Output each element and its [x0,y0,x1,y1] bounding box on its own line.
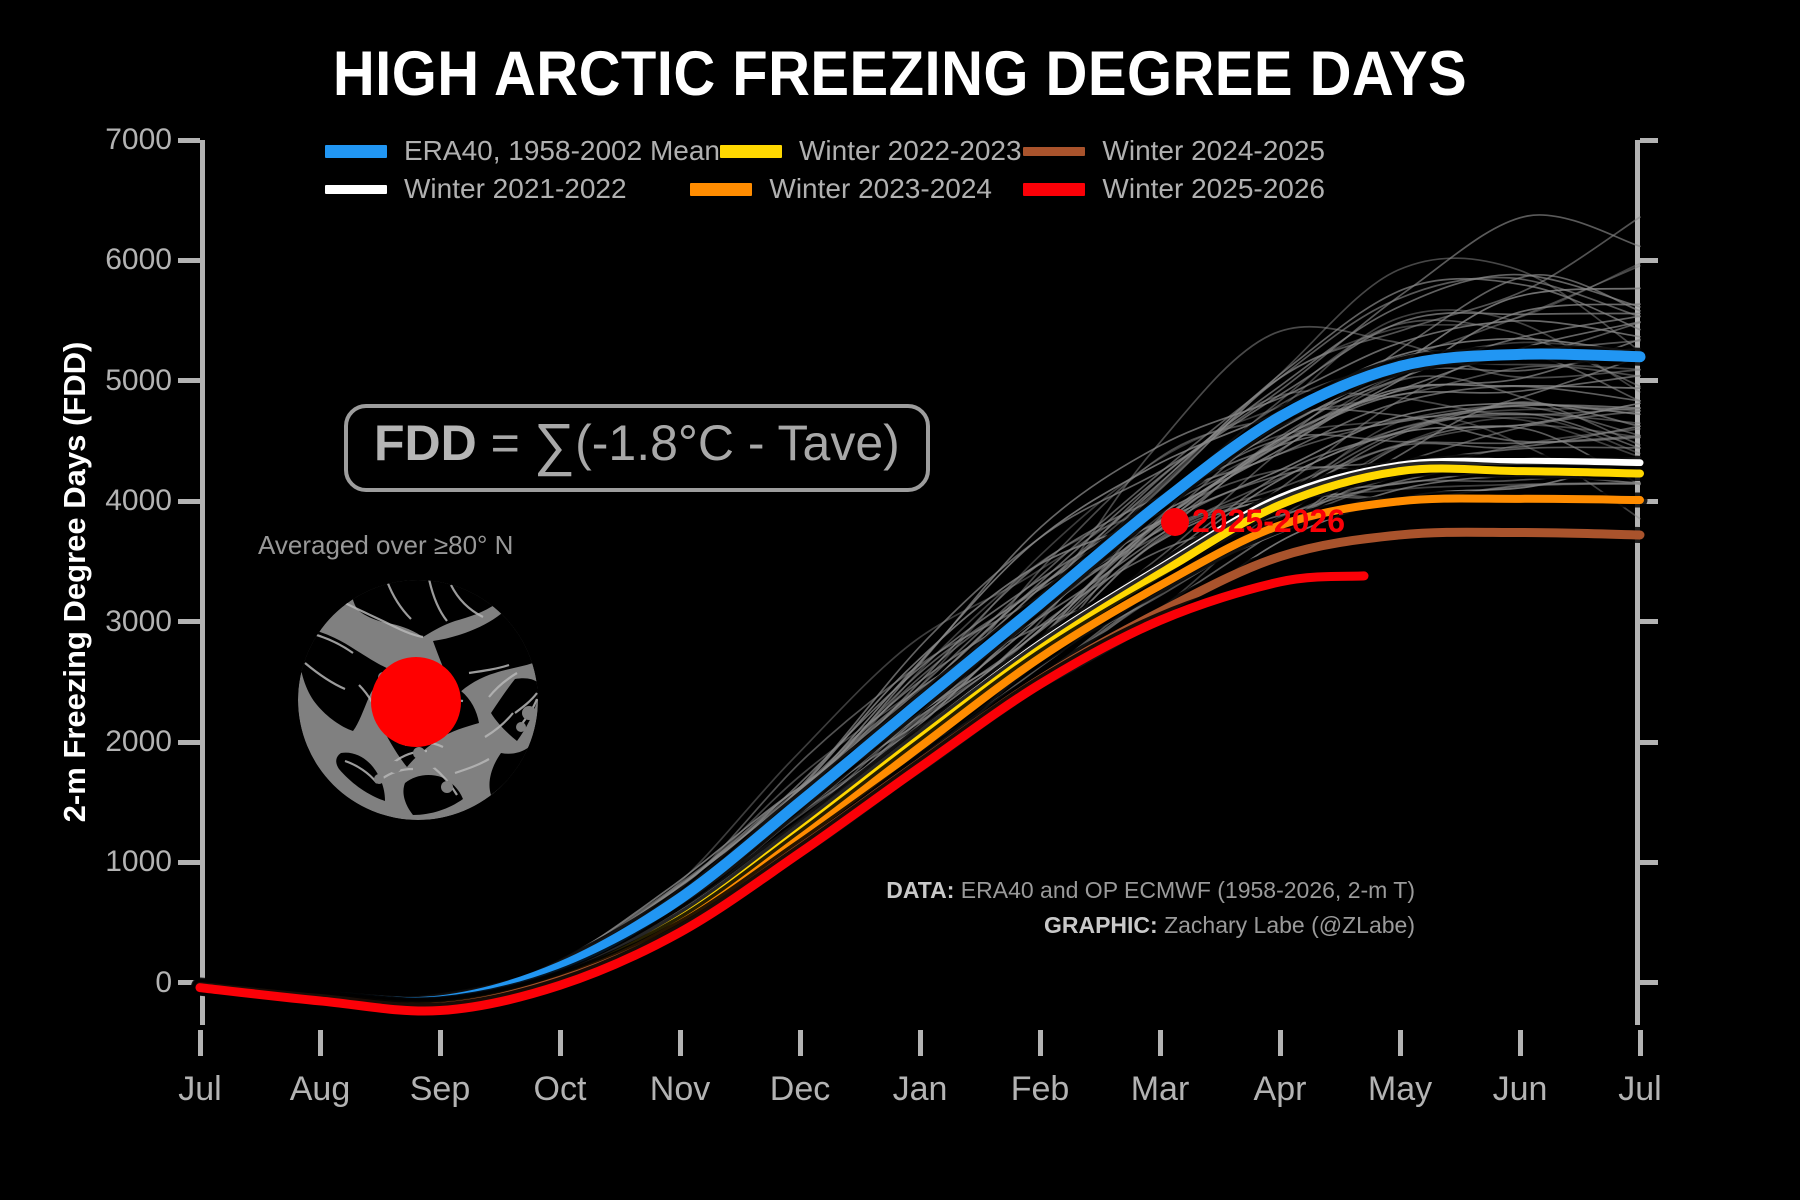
credits-data-value: ERA40 and OP ECMWF (1958-2026, 2-m T) [954,877,1415,903]
region-highlight-80n [371,657,461,747]
y-tick-label: 6000 [105,243,172,277]
x-tick [798,1030,803,1056]
x-tick-label: Oct [534,1070,587,1109]
x-tick [1158,1030,1163,1056]
arctic-map-inset [283,567,553,837]
y-tick [178,499,200,504]
y-tick-label: 7000 [105,123,172,157]
y-tick [178,860,200,865]
y-tick-label: 4000 [105,484,172,518]
y-tick [178,138,200,143]
x-tick-label: Jan [893,1070,948,1109]
x-tick [318,1030,323,1056]
polar-map-icon [283,567,553,837]
x-tick [1518,1030,1523,1056]
y-tick-label: 1000 [105,845,172,879]
x-tick [1038,1030,1043,1056]
formula-sigma-icon: ∑ [534,412,575,477]
x-tick-label: Jul [178,1070,221,1109]
x-tick-label: Apr [1254,1070,1307,1109]
x-tick-label: Aug [290,1070,351,1109]
y-tick-label: 0 [155,966,172,1000]
y-axis-title: 2-m Freezing Degree Days (FDD) [57,342,93,823]
y-tick-right [1640,138,1658,143]
y-tick [178,740,200,745]
formula-rhs: (-1.8°C - Tave) [575,415,900,471]
x-tick [438,1030,443,1056]
x-tick [558,1030,563,1056]
credits-graphic-label: GRAPHIC: [1044,912,1158,938]
y-tick-right [1640,980,1658,985]
credits-graphic-value: Zachary Labe (@ZLabe) [1158,912,1415,938]
x-tick [1278,1030,1283,1056]
y-tick-label: 2000 [105,725,172,759]
inset-caption: Averaged over ≥80° N [258,530,513,561]
y-tick-right [1640,740,1658,745]
formula-equals: = [477,415,534,471]
x-tick-label: Dec [770,1070,830,1109]
fdd-formula-box: FDD = ∑(-1.8°C - Tave) [344,404,930,492]
credits-graphic-line: GRAPHIC: Zachary Labe (@ZLabe) [886,908,1415,943]
y-tick-right [1640,378,1658,383]
y-tick-right [1640,619,1658,624]
y-tick-right [1640,860,1658,865]
y-tick [178,258,200,263]
x-tick [1398,1030,1403,1056]
x-tick [198,1030,203,1056]
current-year-marker [1161,508,1189,536]
page-title: HIGH ARCTIC FREEZING DEGREE DAYS [72,38,1728,110]
credits-data-label: DATA: [886,877,954,903]
x-tick-label: Mar [1131,1070,1190,1109]
credits: DATA: ERA40 and OP ECMWF (1958-2026, 2-m… [886,873,1415,942]
y-tick-label: 3000 [105,605,172,639]
chart-canvas: HIGH ARCTIC FREEZING DEGREE DAYS ERA40, … [0,0,1800,1200]
y-tick-label: 5000 [105,364,172,398]
y-tick-right [1640,258,1658,263]
x-tick [678,1030,683,1056]
x-tick [918,1030,923,1056]
x-tick-label: Feb [1011,1070,1070,1109]
x-tick-label: Jul [1618,1070,1661,1109]
credits-data-line: DATA: ERA40 and OP ECMWF (1958-2026, 2-m… [886,873,1415,908]
current-year-label: 2025-2026 [1192,503,1345,540]
y-tick [178,619,200,624]
x-tick-label: Jun [1493,1070,1548,1109]
formula-lhs: FDD [374,415,477,471]
x-tick [1638,1030,1643,1056]
x-tick-label: Sep [410,1070,471,1109]
x-tick-label: May [1368,1070,1432,1109]
x-tick-label: Nov [650,1070,710,1109]
y-tick [178,378,200,383]
